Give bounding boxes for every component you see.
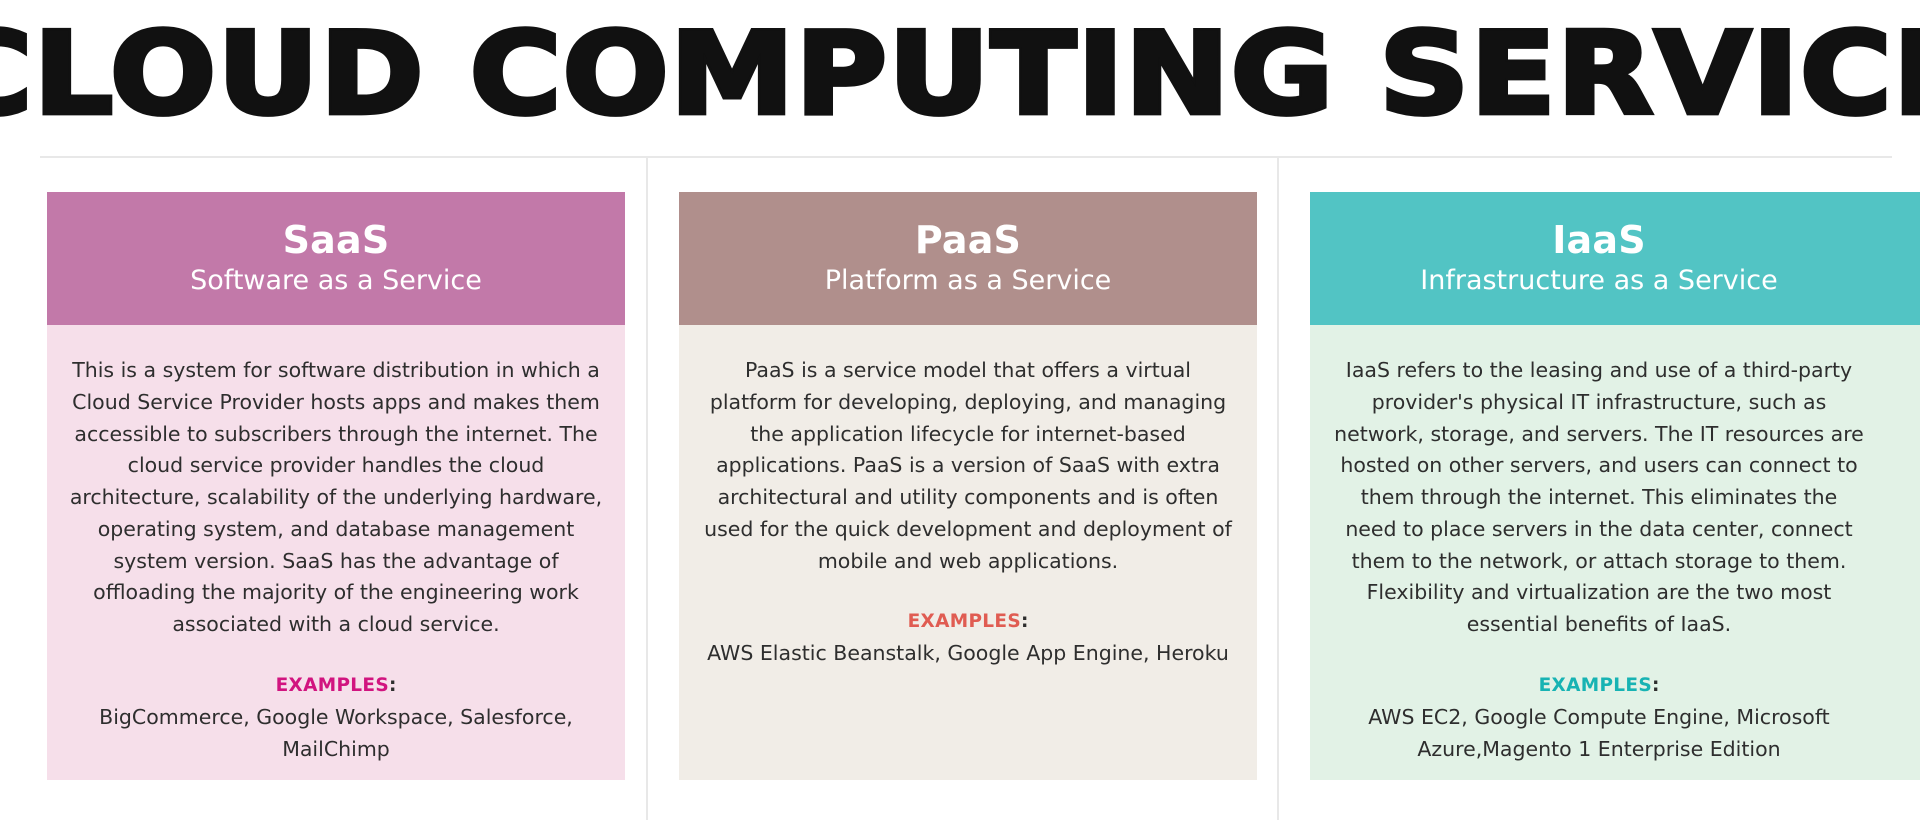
card-examples-heading: EXAMPLES: (1332, 675, 1866, 696)
card-description: This is a system for software distributi… (69, 355, 603, 641)
card-full-name: Platform as a Service (825, 265, 1112, 296)
card-examples-colon: : (1021, 611, 1028, 632)
card-examples-list: BigCommerce, Google Workspace, Salesforc… (69, 702, 603, 766)
service-cards-container: SaaS Software as a Service This is a sys… (0, 0, 1920, 820)
card-examples-block: EXAMPLES: AWS Elastic Beanstalk, Google … (701, 611, 1235, 670)
card-abbreviation: IaaS (1552, 220, 1646, 261)
card-description: IaaS refers to the leasing and use of a … (1332, 355, 1866, 641)
card-examples-list: AWS Elastic Beanstalk, Google App Engine… (701, 638, 1235, 670)
card-examples-label: EXAMPLES (276, 675, 389, 696)
card-abbreviation: PaaS (915, 220, 1021, 261)
card-full-name: Infrastructure as a Service (1420, 265, 1777, 296)
card-header-paas: PaaS Platform as a Service (679, 192, 1257, 325)
card-body-paas: PaaS is a service model that offers a vi… (679, 325, 1257, 780)
card-description: PaaS is a service model that offers a vi… (701, 355, 1235, 577)
service-card-iaas[interactable]: IaaS Infrastructure as a Service IaaS re… (1310, 192, 1920, 780)
card-body-saas: This is a system for software distributi… (47, 325, 625, 780)
service-card-saas[interactable]: SaaS Software as a Service This is a sys… (47, 192, 625, 780)
card-examples-list: AWS EC2, Google Compute Engine, Microsof… (1332, 702, 1866, 766)
card-examples-colon: : (389, 675, 396, 696)
card-header-iaas: IaaS Infrastructure as a Service (1310, 192, 1920, 325)
card-examples-heading: EXAMPLES: (69, 675, 603, 696)
card-abbreviation: SaaS (283, 220, 390, 261)
service-card-paas[interactable]: PaaS Platform as a Service PaaS is a ser… (679, 192, 1257, 780)
card-examples-label: EXAMPLES (908, 611, 1021, 632)
card-examples-colon: : (1652, 675, 1659, 696)
card-examples-block: EXAMPLES: AWS EC2, Google Compute Engine… (1332, 675, 1866, 766)
card-examples-heading: EXAMPLES: (701, 611, 1235, 632)
card-header-saas: SaaS Software as a Service (47, 192, 625, 325)
card-examples-block: EXAMPLES: BigCommerce, Google Workspace,… (69, 675, 603, 766)
card-full-name: Software as a Service (190, 265, 482, 296)
card-body-iaas: IaaS refers to the leasing and use of a … (1310, 325, 1920, 780)
card-examples-label: EXAMPLES (1539, 675, 1652, 696)
